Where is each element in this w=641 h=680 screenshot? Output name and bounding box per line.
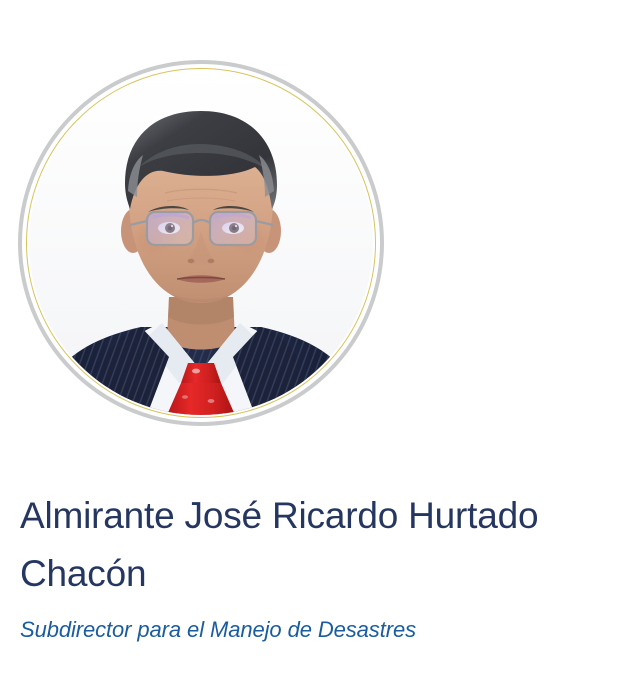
person-name: Almirante José Ricardo Hurtado Chacón	[20, 487, 620, 603]
portrait-photo[interactable]	[29, 71, 373, 415]
person-role: Subdirector para el Manejo de Desastres	[20, 615, 620, 645]
portrait-container[interactable]	[18, 60, 384, 426]
profile-card: Almirante José Ricardo Hurtado Chacón Su…	[0, 0, 641, 680]
